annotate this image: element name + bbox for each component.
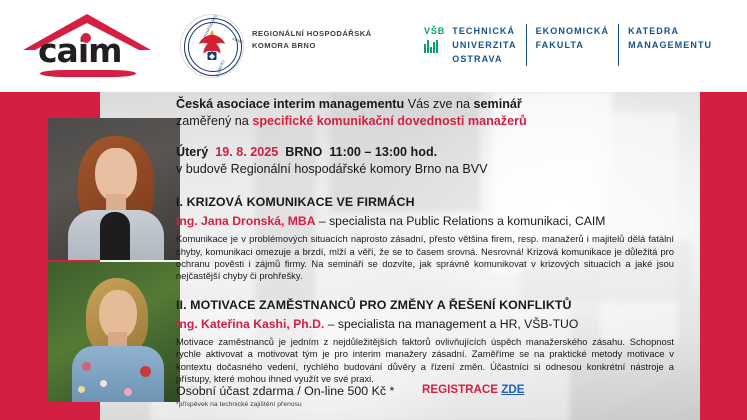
vsb-faculty: EKONOMICKÁ FAKULTA — [536, 24, 610, 52]
lead-paragraph: Česká asociace interim managementu Vás z… — [176, 92, 690, 129]
vsb-department: KATEDRA MANAGEMENTU — [628, 24, 712, 52]
speaker-photo-katerina-kashi — [48, 262, 180, 402]
vsb-dept-line-1: KATEDRA — [628, 24, 712, 38]
section-one-body: Komunikace je v problémových situacích n… — [176, 228, 674, 283]
vsb-mark: VŠB — [424, 24, 445, 54]
right-red-stripe — [700, 92, 747, 420]
section-two-body: Motivace zaměstnanců je jedním z nejdůle… — [176, 331, 674, 386]
vsb-dept-line-2: MANAGEMENTU — [628, 38, 712, 52]
caim-underline — [40, 70, 136, 77]
lead-focus-prefix: zaměřený na — [176, 114, 252, 128]
caim-logo: caim — [18, 10, 156, 80]
event-date: 19. 8. 2025 — [215, 145, 278, 159]
caim-dot-icon — [81, 33, 91, 43]
poster-footer: Osobní účast zdarma / On-line 500 Kč * R… — [176, 382, 690, 408]
event-time: 11:00 – 13:00 hod. — [329, 145, 437, 159]
rhk-logo: HOSPODÁŘSKÁ KOMORA ČESKÉ REPUBLIKY REGIO… — [180, 14, 380, 78]
price-note: *příspěvek na technické zajištění přenos… — [176, 400, 690, 408]
section-one-title: I. KRIZOVÁ KOMUNIKACE VE FIRMÁCH — [176, 195, 690, 209]
rhk-seal-text: HOSPODÁŘSKÁ KOMORA ČESKÉ REPUBLIKY — [181, 15, 243, 77]
vsb-faculty-line-2: FAKULTA — [536, 38, 610, 52]
section-one-speaker-role: – specialista na Public Relations a komu… — [316, 214, 606, 228]
rhk-logo-text: REGIONÁLNÍ HOSPODÁŘSKÁ KOMORA BRNO — [252, 28, 380, 52]
section-two-title: II. MOTIVACE ZAMĚSTNANCŮ PRO ZMĚNY A ŘEŠ… — [176, 298, 690, 312]
vsb-divider-1 — [526, 24, 527, 66]
section-two-speaker: Ing. Kateřina Kashi, Ph.D. – specialista… — [176, 312, 690, 331]
logo-header: caim HOSPODÁŘSKÁ KOMORA ČESKÉ REPUBLIKY — [0, 0, 747, 92]
section-two-speaker-name: Ing. Kateřina Kashi, Ph.D. — [176, 317, 324, 331]
rhk-line-1: REGIONÁLNÍ HOSPODÁŘSKÁ — [252, 28, 380, 40]
seminar-poster: caim HOSPODÁŘSKÁ KOMORA ČESKÉ REPUBLIKY — [0, 0, 747, 420]
lead-org: Česká asociace interim managementu — [176, 97, 404, 111]
section-two: II. MOTIVACE ZAMĚSTNANCŮ PRO ZMĚNY A ŘEŠ… — [176, 283, 690, 386]
lead-topic: specifické komunikační dovednosti manaže… — [252, 114, 526, 128]
event-details: Úterý 19. 8. 2025 BRNO 11:00 – 13:00 hod… — [176, 129, 690, 178]
event-city: BRNO — [285, 145, 322, 159]
registration-cta[interactable]: REGISTRACE ZDE — [422, 383, 524, 396]
vsb-university-name: TECHNICKÁ UNIVERZITA OSTRAVA — [452, 24, 516, 66]
registration-label: REGISTRACE — [422, 383, 501, 396]
registration-link[interactable]: ZDE — [501, 383, 524, 396]
lead-seminar-word: seminář — [474, 97, 522, 111]
vsb-uni-line-3: OSTRAVA — [452, 52, 516, 66]
section-one-speaker: Ing. Jana Dronská, MBA – specialista na … — [176, 209, 690, 228]
event-venue: v budově Regionální hospodářské komory B… — [176, 161, 690, 178]
vsb-uni-line-2: UNIVERZITA — [452, 38, 516, 52]
rhk-seal-icon: HOSPODÁŘSKÁ KOMORA ČESKÉ REPUBLIKY — [180, 14, 244, 78]
section-one: I. KRIZOVÁ KOMUNIKACE VE FIRMÁCH Ing. Ja… — [176, 178, 690, 283]
section-one-speaker-name: Ing. Jana Dronská, MBA — [176, 214, 316, 228]
price-line: Osobní účast zdarma / On-line 500 Kč * — [176, 384, 394, 398]
lead-connector: Vás zve na — [404, 97, 473, 111]
poster-content: Česká asociace interim managementu Vás z… — [176, 92, 690, 420]
vsb-logo: VŠB TECHNICKÁ UNIVERZITA OSTRAVA EKONOMI… — [424, 24, 712, 70]
rhk-line-2: KOMORA BRNO — [252, 40, 380, 52]
vsb-bars-icon — [424, 40, 445, 53]
vsb-faculty-line-1: EKONOMICKÁ — [536, 24, 610, 38]
vsb-abbr: VŠB — [424, 24, 445, 38]
vsb-uni-line-1: TECHNICKÁ — [452, 24, 516, 38]
vsb-divider-2 — [618, 24, 619, 66]
speaker-photo-jana-dronska — [48, 118, 180, 260]
section-two-speaker-role: – specialista na management a HR, VŠB-TU… — [324, 317, 578, 331]
event-day: Úterý — [176, 145, 208, 159]
